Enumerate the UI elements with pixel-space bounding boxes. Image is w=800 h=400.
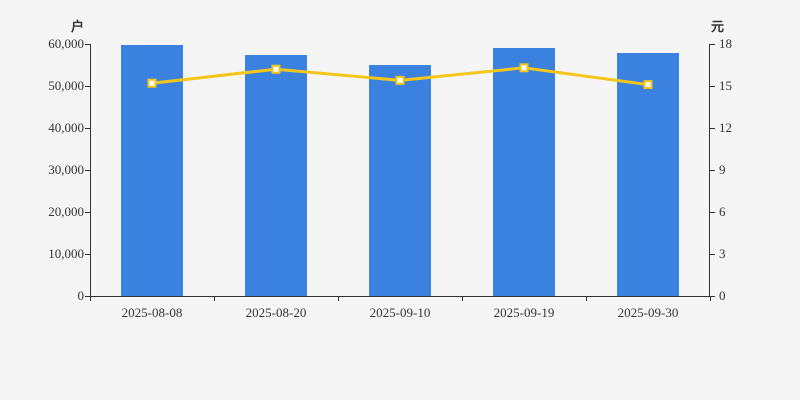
x-axis-tick-label: 2025-09-30 [586, 305, 710, 321]
right-axis-unit-label: 元 [711, 16, 724, 35]
x-axis-tick-label: 2025-09-19 [462, 305, 586, 321]
right-axis-tick-label: 15 [719, 79, 732, 92]
x-axis-tick [90, 296, 91, 301]
right-axis-tick-label: 18 [719, 37, 732, 50]
left-axis-tick-label: 0 [78, 289, 85, 302]
x-axis-tick [586, 296, 587, 301]
right-axis-tick [710, 86, 715, 87]
plot-area: 2025-08-08 15.2 元2025-08-20 16.2 元2025-0… [90, 44, 710, 296]
right-axis-tick [710, 212, 715, 213]
right-axis-tick-label: 9 [719, 163, 726, 176]
left-axis-tick-label: 30,000 [48, 163, 84, 176]
right-axis-tick [710, 128, 715, 129]
right-axis-tick [710, 170, 715, 171]
line-series: 2025-08-08 15.2 元2025-08-20 16.2 元2025-0… [90, 44, 710, 296]
line-marker[interactable]: 2025-09-19 16.3 元 [521, 64, 528, 71]
right-axis-tick-label: 12 [719, 121, 732, 134]
x-axis-tick-label: 2025-09-10 [338, 305, 462, 321]
right-axis-tick-label: 3 [719, 247, 726, 260]
line-marker[interactable]: 2025-09-10 15.4 元 [397, 77, 404, 84]
left-axis-tick-label: 10,000 [48, 247, 84, 260]
left-axis-unit-label: 户 [71, 16, 84, 35]
line-marker[interactable]: 2025-08-20 16.2 元 [273, 66, 280, 73]
right-axis-tick-label: 6 [719, 205, 726, 218]
left-axis-tick-label: 20,000 [48, 205, 84, 218]
left-axis-tick-label: 60,000 [48, 37, 84, 50]
right-axis-tick-label: 0 [719, 289, 726, 302]
x-axis-tick [214, 296, 215, 301]
x-axis-tick [338, 296, 339, 301]
left-axis-tick-label: 50,000 [48, 79, 84, 92]
x-axis-tick-label: 2025-08-20 [214, 305, 338, 321]
x-axis-tick-label: 2025-08-08 [90, 305, 214, 321]
left-axis-tick-label: 40,000 [48, 121, 84, 134]
chart-container: 户 元 010,00020,00030,00040,00050,00060,00… [0, 0, 800, 400]
right-axis-tick [710, 254, 715, 255]
right-axis-tick [710, 44, 715, 45]
x-axis-line [90, 296, 710, 297]
line-marker[interactable]: 2025-09-30 15.1 元 [645, 81, 652, 88]
line-marker[interactable]: 2025-08-08 15.2 元 [149, 80, 156, 87]
x-axis-tick [710, 296, 711, 301]
x-axis-tick [462, 296, 463, 301]
